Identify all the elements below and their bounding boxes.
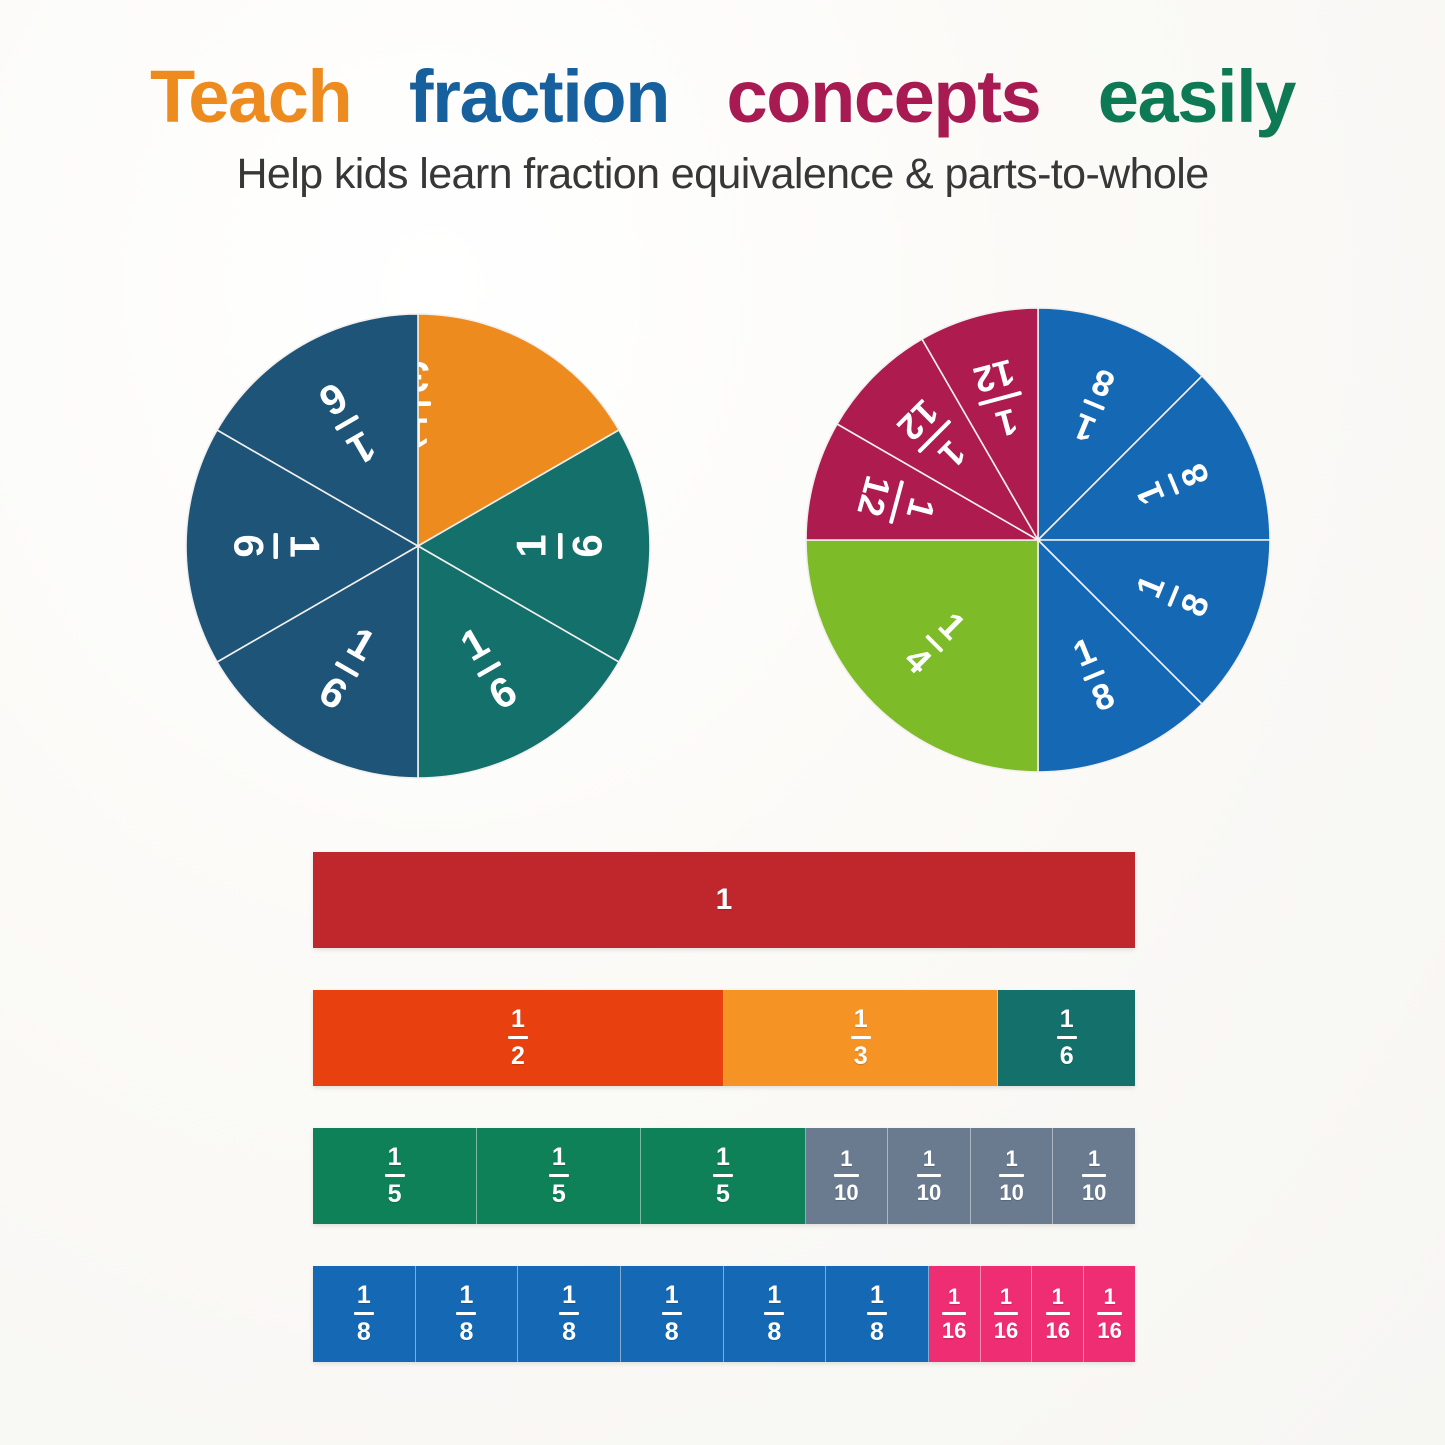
fraction-denominator: 10 [999, 1182, 1023, 1204]
title-word-teach: Teach [150, 55, 351, 138]
fraction-numerator: 1 [923, 1148, 935, 1170]
fraction-denominator: 4 [897, 638, 940, 681]
fraction-rule [851, 1036, 871, 1039]
title-word-easily: easily [1098, 55, 1295, 138]
fraction-numerator: 1 [1052, 1286, 1064, 1308]
fraction-numerator: 1 [870, 1283, 884, 1308]
pie-slice[interactable] [1038, 308, 1202, 540]
fraction-numerator: 1 [931, 433, 974, 476]
fraction-numerator: 1 [948, 1286, 960, 1308]
pie-slice-label: 14 [896, 603, 975, 682]
fraction-numerator: 1 [840, 1148, 852, 1170]
fraction-denominator: 8 [1172, 458, 1218, 492]
fraction-numerator: 1 [453, 618, 497, 670]
fraction-bar-cell[interactable]: 116 [981, 1266, 1033, 1362]
pie-slice[interactable] [1038, 376, 1270, 540]
fraction-label: 116 [1046, 1286, 1070, 1342]
fraction-rule [867, 1312, 887, 1315]
title-space-3 [1059, 55, 1078, 138]
fraction-label: 16 [1057, 1007, 1077, 1069]
pie-slice-label: 18 [1066, 360, 1121, 451]
fraction-rule [994, 1312, 1018, 1315]
fraction-numerator: 1 [340, 618, 384, 670]
pie-slice[interactable] [1038, 540, 1202, 772]
whole-bar: 1 [313, 852, 1135, 948]
fraction-rule [456, 1312, 476, 1315]
fraction-denominator: 8 [767, 1320, 781, 1345]
fraction-bar-cell[interactable]: 110 [971, 1128, 1054, 1224]
fraction-label: 13 [851, 1007, 871, 1069]
fraction-rule [334, 661, 359, 678]
fraction-denominator: 6 [225, 534, 272, 557]
fraction-denominator: 6 [312, 666, 356, 718]
fraction-bar-cell[interactable]: 12 [313, 990, 724, 1086]
fraction-label: 110 [999, 1148, 1023, 1204]
fraction-denominator: 16 [1046, 1320, 1070, 1342]
fraction-numerator: 1 [1000, 1286, 1012, 1308]
fraction-bar-cell[interactable]: 1 [313, 852, 1135, 948]
fraction-denominator: 10 [1082, 1182, 1106, 1204]
fraction-rule [1057, 1036, 1077, 1039]
fraction-denominator: 16 [942, 1320, 966, 1342]
fraction-bar-cell[interactable]: 15 [477, 1128, 641, 1224]
pie-slice[interactable] [837, 339, 1038, 540]
fraction-rule [559, 1312, 579, 1315]
fraction-numerator: 1 [1067, 629, 1101, 675]
fraction-rule [999, 1174, 1023, 1177]
fraction-rule [917, 419, 951, 453]
fraction-denominator: 10 [834, 1182, 858, 1204]
fraction-bars-group: 1121316151515110110110110181818181818116… [313, 852, 1135, 1404]
fraction-numerator: 1 [388, 1145, 402, 1170]
fraction-rule [1082, 1174, 1106, 1177]
fraction-numerator: 1 [716, 1145, 730, 1170]
eighths-sixteenths-bar: 181818181818116116116116 [313, 1266, 1135, 1362]
pie-slice-label: 16 [507, 533, 610, 559]
fraction-bar-cell[interactable]: 110 [888, 1128, 971, 1224]
fraction-numerator: 1 [357, 1283, 371, 1308]
fraction-label: 110 [1082, 1148, 1106, 1204]
fraction-denominator: 5 [552, 1182, 566, 1207]
page-subtitle: Help kids learn fraction equivalence & p… [0, 150, 1445, 199]
pie-slice-label: 13 [405, 353, 431, 456]
fraction-numerator: 1 [854, 1007, 868, 1032]
fraction-rule [549, 1174, 569, 1177]
pie-slice[interactable] [922, 308, 1038, 540]
fraction-rule [1167, 473, 1179, 495]
fraction-denominator: 8 [357, 1320, 371, 1345]
fraction-rule [925, 634, 944, 653]
fraction-numerator: 1 [1103, 1286, 1115, 1308]
pie-slice-label: 112 [967, 351, 1033, 449]
pie-slice[interactable] [418, 546, 619, 778]
fraction-label: 18 [559, 1283, 579, 1345]
fraction-numerator: 1 [899, 494, 944, 524]
fraction-numerator: 1 [406, 410, 429, 457]
pie-slice-label: 18 [1127, 568, 1218, 623]
fraction-numerator: 1 [511, 1007, 525, 1032]
fraction-label: 18 [662, 1283, 682, 1345]
title-word-fraction: fraction [409, 55, 669, 138]
pie-slice[interactable] [217, 546, 418, 778]
fraction-denominator: 3 [854, 1044, 868, 1069]
fraction-denominator: 2 [511, 1044, 525, 1069]
pie-slice[interactable] [217, 314, 418, 546]
fraction-label: 18 [354, 1283, 374, 1345]
fraction-rule [405, 401, 431, 406]
fraction-bar-cell[interactable]: 18 [826, 1266, 929, 1362]
fraction-bar-cell[interactable]: 18 [724, 1266, 827, 1362]
fraction-bar-cell[interactable]: 110 [1053, 1128, 1135, 1224]
fraction-denominator: 12 [849, 472, 899, 521]
fraction-bar-cell[interactable]: 15 [313, 1128, 477, 1224]
fraction-label: 15 [713, 1145, 733, 1207]
header: Teach fraction concepts easily Help kids… [0, 58, 1445, 199]
fraction-bar-cell[interactable]: 18 [313, 1266, 416, 1362]
fraction-label: 18 [456, 1283, 476, 1345]
fraction-rule [1046, 1312, 1070, 1315]
fraction-rule [662, 1312, 682, 1315]
fraction-denominator: 6 [1060, 1044, 1074, 1069]
halves-thirds-sixths-bar: 121316 [313, 990, 1135, 1086]
fraction-numerator: 1 [992, 401, 1022, 446]
fraction-label-whole: 1 [716, 885, 733, 915]
fraction-rule [1083, 669, 1105, 681]
fraction-numerator: 1 [1127, 569, 1173, 603]
fraction-numerator: 1 [1005, 1148, 1017, 1170]
title-space-1 [371, 55, 390, 138]
fraction-label: 116 [994, 1286, 1018, 1342]
fraction-denominator: 8 [1086, 361, 1120, 407]
pie-slice-label: 16 [451, 617, 525, 719]
page-title: Teach fraction concepts easily [0, 58, 1445, 136]
fraction-label: 15 [549, 1145, 569, 1207]
fraction-rule [334, 414, 359, 431]
fraction-bar-cell[interactable]: 116 [929, 1266, 981, 1362]
fraction-rule [1097, 1312, 1121, 1315]
pie-slice[interactable] [418, 430, 650, 662]
fraction-denominator: 5 [716, 1182, 730, 1207]
fraction-numerator: 1 [665, 1283, 679, 1308]
pie-slice-label: 16 [225, 533, 328, 559]
fraction-bar-cell[interactable]: 13 [724, 990, 998, 1086]
fraction-denominator: 8 [459, 1320, 473, 1345]
fraction-numerator: 1 [1088, 1148, 1100, 1170]
title-space-2 [688, 55, 707, 138]
fraction-rule [978, 391, 1022, 406]
fraction-denominator: 6 [564, 534, 611, 557]
fraction-bar-cell[interactable]: 18 [621, 1266, 724, 1362]
fraction-denominator: 8 [870, 1320, 884, 1345]
pie-slice-label: 18 [1127, 457, 1218, 512]
fraction-denominator: 10 [917, 1182, 941, 1204]
pie-slice-label: 112 [888, 390, 983, 485]
fraction-rule [917, 1174, 941, 1177]
fraction-label: 116 [1097, 1286, 1121, 1342]
fraction-denominator: 3 [406, 353, 429, 400]
fraction-label: 15 [385, 1145, 405, 1207]
pie-slice-label: 16 [310, 373, 384, 475]
fraction-denominator: 8 [1086, 674, 1120, 720]
fraction-denominator: 12 [889, 391, 946, 448]
pie-slice-label: 18 [1066, 629, 1121, 720]
fraction-denominator: 6 [312, 373, 356, 425]
pie-slice[interactable] [806, 424, 1038, 540]
fraction-bar-cell[interactable]: 116 [1084, 1266, 1135, 1362]
fraction-rule [354, 1312, 374, 1315]
fraction-label: 110 [917, 1148, 941, 1204]
fraction-denominator: 16 [1097, 1320, 1121, 1342]
fraction-label: 110 [834, 1148, 858, 1204]
fraction-bar-cell[interactable]: 15 [641, 1128, 805, 1224]
fraction-rule [508, 1036, 528, 1039]
fraction-numerator: 1 [1060, 1007, 1074, 1032]
fraction-numerator: 1 [507, 534, 554, 557]
fraction-bar-cell[interactable]: 110 [806, 1128, 889, 1224]
title-word-concepts: concepts [727, 55, 1041, 138]
fraction-rule [942, 1312, 966, 1315]
fraction-label: 18 [764, 1283, 784, 1345]
fraction-denominator: 8 [665, 1320, 679, 1345]
fraction-bar-cell[interactable]: 18 [518, 1266, 621, 1362]
fraction-numerator: 1 [552, 1145, 566, 1170]
fraction-rule [477, 661, 502, 678]
fraction-rule [764, 1312, 784, 1315]
pie-slice[interactable] [217, 314, 619, 546]
fraction-bar-cell[interactable]: 16 [998, 990, 1135, 1086]
fraction-rule [1167, 585, 1179, 607]
fraction-rule [889, 480, 904, 524]
fraction-rule [834, 1174, 858, 1177]
fraction-denominator: 12 [970, 351, 1019, 401]
fraction-numerator: 1 [1067, 405, 1101, 451]
fraction-denominator: 8 [562, 1320, 576, 1345]
fraction-denominator: 5 [388, 1182, 402, 1207]
fraction-numerator: 1 [282, 534, 329, 557]
pie-slice[interactable] [806, 540, 1038, 772]
fraction-numerator: 1 [459, 1283, 473, 1308]
fraction-label: 12 [508, 1007, 528, 1069]
fraction-denominator: 16 [994, 1320, 1018, 1342]
fraction-numerator: 1 [562, 1283, 576, 1308]
pie-slice-label: 16 [310, 617, 384, 719]
fraction-rule [1083, 399, 1105, 411]
fraction-label: 18 [867, 1283, 887, 1345]
fraction-denominator: 6 [481, 666, 525, 718]
fraction-wheel-right: 1818181814112112112 [788, 290, 1288, 790]
fraction-rule [558, 533, 563, 559]
fifths-tenths-bar: 151515110110110110 [313, 1128, 1135, 1224]
pie-slice[interactable] [1038, 540, 1270, 704]
fraction-numerator: 1 [1127, 477, 1173, 511]
fraction-rule [273, 533, 278, 559]
fraction-numerator: 1 [340, 422, 384, 474]
fraction-numerator: 1 [931, 604, 974, 647]
fraction-rule [385, 1174, 405, 1177]
fraction-label: 116 [942, 1286, 966, 1342]
product-infographic-page: Teach fraction concepts easily Help kids… [0, 0, 1445, 1445]
fraction-rule [713, 1174, 733, 1177]
fraction-wheel-left: 131616161616 [168, 296, 668, 796]
fraction-bar-cell[interactable]: 116 [1032, 1266, 1084, 1362]
pie-slice[interactable] [186, 430, 418, 662]
fraction-denominator: 8 [1172, 588, 1218, 622]
fraction-bar-cell[interactable]: 18 [416, 1266, 519, 1362]
pie-slice-label: 112 [849, 469, 947, 535]
fraction-numerator: 1 [767, 1283, 781, 1308]
